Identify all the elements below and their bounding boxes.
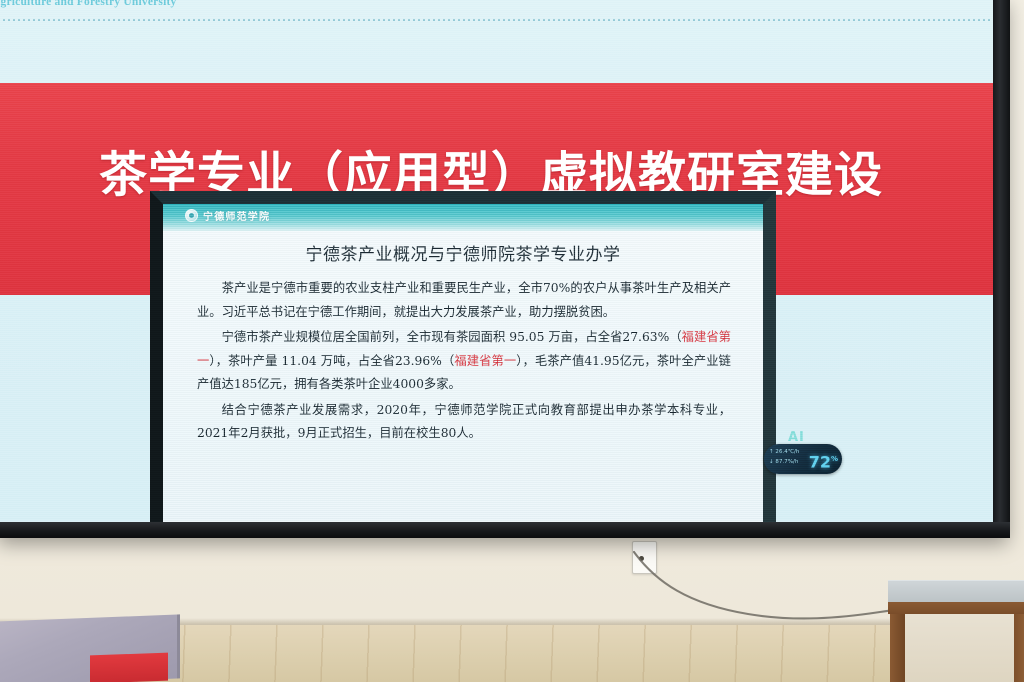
table-top (888, 580, 1024, 602)
slide-header-bar: 宁德师范学院 (163, 204, 763, 231)
presentation-canvas[interactable]: Agriculture and Forestry University 茶学专业… (0, 0, 993, 524)
slide-title: 宁德茶产业概况与宁德师院茶学专业办学 (163, 240, 763, 265)
table-leg-left (890, 614, 905, 682)
ai-stat-humidity: ↓ 87.7%/h (769, 458, 813, 468)
ai-primary-value: 72% (809, 448, 838, 473)
display-bezel-bottom (0, 522, 1010, 538)
ai-primary-value-number: 72 (809, 452, 831, 471)
chair-panel (0, 618, 184, 682)
wall-outlet (632, 541, 657, 574)
red-sheet (90, 653, 168, 682)
ai-climate-overlay[interactable]: AI ↑ 26.4℃/h ↓ 87.7%/h 72% (764, 430, 842, 478)
paragraph-text: ），茶叶产量 11.04 万吨，占全省23.96%（ (209, 354, 454, 368)
projection-display[interactable]: Agriculture and Forestry University 茶学专业… (0, 0, 1008, 538)
wooden-table (888, 580, 1024, 682)
display-bezel-right (993, 0, 1010, 536)
paragraph-text: 结合宁德茶产业发展需求，2020年，宁德师范学院正式向教育部提出申办茶学本科专业… (197, 403, 731, 441)
ai-label: AI (788, 430, 805, 445)
paragraph-text: 宁德市茶产业规模位居全国前列，全市现有茶园面积 95.05 万亩，占全省27.6… (222, 330, 682, 344)
slide-paragraph: 茶产业是宁德市重要的农业支柱产业和重要民生产业，全市70%的农户从事茶叶生产及相… (197, 277, 731, 324)
ai-stats: ↑ 26.4℃/h ↓ 87.7%/h (769, 448, 813, 467)
university-logo-text: 宁德师范学院 (203, 208, 270, 223)
highlighted-text: 福建省第一 (454, 354, 516, 368)
university-seal-icon (185, 209, 198, 222)
header-dotted-divider (0, 19, 992, 21)
slide-paragraph: 宁德市茶产业规模位居全国前列，全市现有茶园面积 95.05 万亩，占全省27.6… (197, 326, 731, 397)
presentation-header-english: Agriculture and Forestry University (0, 0, 176, 8)
university-logo: 宁德师范学院 (185, 208, 270, 223)
table-leg-right (1014, 614, 1024, 682)
slide-paragraph: 结合宁德茶产业发展需求，2020年，宁德师范学院正式向教育部提出申办茶学本科专业… (197, 399, 731, 446)
slide-body: 茶产业是宁德市重要的农业支柱产业和重要民生产业，全市70%的农户从事茶叶生产及相… (197, 277, 731, 448)
paragraph-text: 茶产业是宁德市重要的农业支柱产业和重要民生产业，全市70%的农户从事茶叶生产及相… (197, 281, 731, 319)
table-underside (905, 614, 1024, 682)
ai-primary-value-unit: % (831, 455, 838, 463)
table-apron (888, 602, 1024, 614)
shared-slide[interactable]: 宁德师范学院 宁德茶产业概况与宁德师院茶学专业办学 茶产业是宁德市重要的农业支柱… (163, 204, 763, 524)
ai-stat-temperature: ↑ 26.4℃/h (769, 448, 813, 458)
shared-screen-window[interactable]: 宁德师范学院 宁德茶产业概况与宁德师院茶学专业办学 茶产业是宁德市重要的农业支柱… (150, 191, 776, 524)
